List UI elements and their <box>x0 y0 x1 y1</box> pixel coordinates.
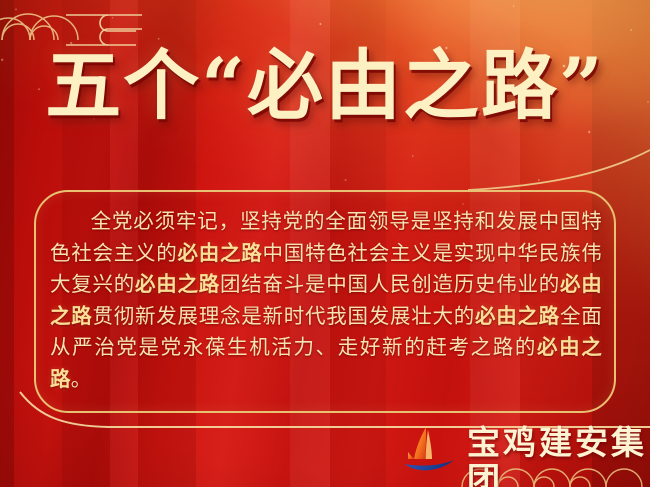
body-plain-text: 团结奋斗是中国人民创造历史伟业的 <box>220 273 560 296</box>
body-emphasis-phrase: 必由之路 <box>178 242 263 265</box>
body-emphasis-phrase: 必由之路 <box>475 305 560 328</box>
sail-bird-logo-mark <box>404 426 458 474</box>
logo-text-block: 宝鸡建安集团 Baoji Construction and Installati… <box>467 424 650 487</box>
body-rich-text: 全党必须牢记，坚持党的全面领导是坚持和发展中国特色社会主义的必由之路中国特色社会… <box>50 210 602 391</box>
page-title: 五个“必由之路” <box>0 48 650 124</box>
company-name-cn: 宝鸡建安集团 <box>467 424 650 487</box>
poster-canvas: 五个“必由之路” 全党必须牢记，坚持党的全面领导是坚持和发展中国特色社会主义的必… <box>0 0 650 487</box>
body-plain-text: 。 <box>71 368 92 391</box>
content-panel-text: 全党必须牢记，坚持党的全面领导是坚持和发展中国特色社会主义的必由之路中国特色社会… <box>50 206 602 395</box>
body-emphasis-phrase: 必由之路 <box>135 273 220 296</box>
company-logo: 宝鸡建安集团 Baoji Construction and Installati… <box>404 424 650 487</box>
body-plain-text: 贯彻新发展理念是新时代我国发展壮大的 <box>93 305 476 328</box>
